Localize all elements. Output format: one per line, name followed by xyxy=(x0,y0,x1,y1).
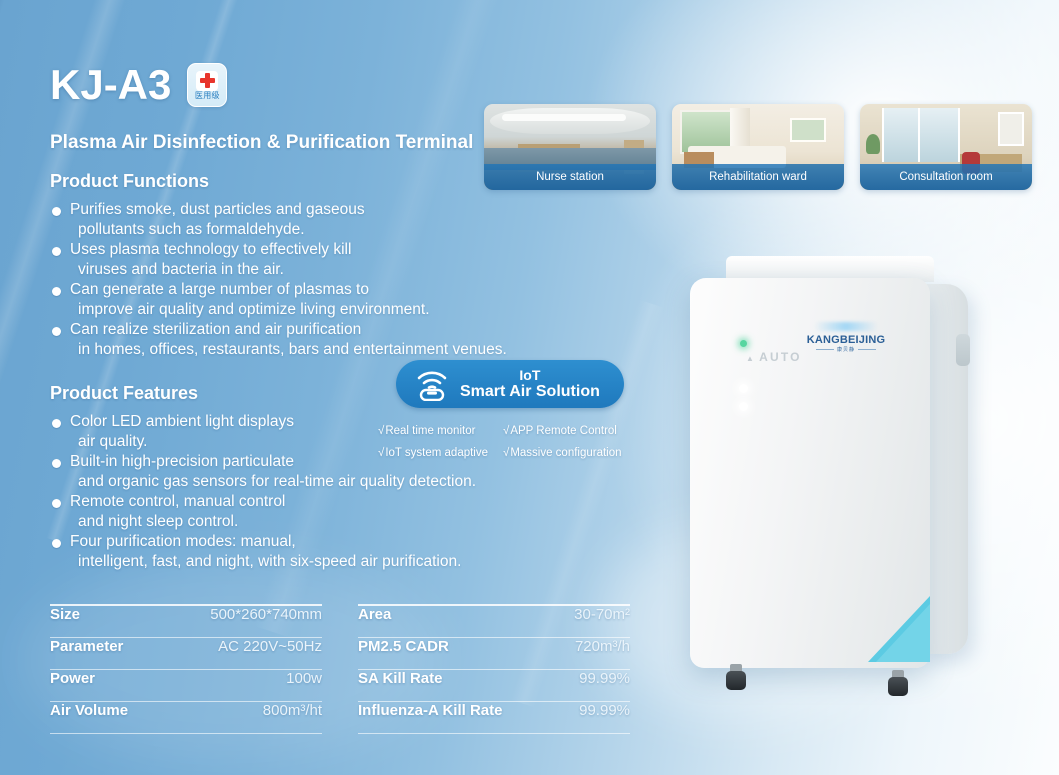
product-mode-label: ▲AUTO xyxy=(746,350,802,364)
spec-key: Parameter xyxy=(50,638,123,655)
bullet-dot-icon xyxy=(52,327,61,336)
list-item-line1: Uses plasma technology to effectively ki… xyxy=(70,241,351,258)
table-row: Power100w xyxy=(50,670,322,702)
medical-grade-label: 医用级 xyxy=(195,92,220,100)
list-item-line1: Can generate a large number of plasmas t… xyxy=(70,281,369,298)
iot-badge: IoT Smart Air Solution xyxy=(396,360,624,408)
iot-badge-text: IoT Smart Air Solution xyxy=(460,368,600,400)
check-item: √APP Remote Control xyxy=(503,420,628,442)
table-row: Area30-70m² xyxy=(358,606,630,638)
table-row: Influenza-A Kill Rate99.99% xyxy=(358,702,630,734)
scene-caption: Rehabilitation ward xyxy=(672,164,844,190)
list-item: Purifies smoke, dust particles and gaseo… xyxy=(52,200,632,239)
bullet-dot-icon xyxy=(52,207,61,216)
title-row: KJ-A3 医用级 xyxy=(50,63,227,107)
check-tick-icon: √ xyxy=(378,425,384,437)
check-label: IoT system adaptive xyxy=(385,447,488,459)
list-item-line2: viruses and bacteria in the air. xyxy=(70,260,351,280)
red-cross-icon xyxy=(196,71,218,91)
background-streak xyxy=(0,0,23,344)
spec-key: Air Volume xyxy=(50,702,128,719)
section-heading-functions: Product Functions xyxy=(50,171,209,192)
check-label: Massive configuration xyxy=(510,447,621,459)
list-item-line1: Remote control, manual control xyxy=(70,493,285,510)
product-caster-wheel xyxy=(888,670,908,696)
brand-name-cn: 康贝静 xyxy=(837,346,855,353)
iot-subtitle: Smart Air Solution xyxy=(460,383,600,400)
list-item: Can realize sterilization and air purifi… xyxy=(52,320,632,359)
scene-thumbnail-rehabilitation-ward[interactable]: Rehabilitation ward xyxy=(672,104,844,190)
table-row: ParameterAC 220V~50Hz xyxy=(50,638,322,670)
bullet-dot-icon xyxy=(52,499,61,508)
product-image: ▲AUTO KANGBEIJING 康贝静 xyxy=(660,250,1040,720)
spec-value: 99.99% xyxy=(579,702,630,719)
brand-name: KANGBEIJING xyxy=(800,334,892,346)
spec-value: AC 220V~50Hz xyxy=(218,638,322,655)
product-front-panel: ▲AUTO KANGBEIJING 康贝静 xyxy=(690,278,930,668)
list-item-line2: pollutants such as formaldehyde. xyxy=(70,220,365,240)
wifi-icon xyxy=(414,367,450,401)
list-item-line2: and night sleep control. xyxy=(70,512,285,532)
spec-value: 720m³/h xyxy=(575,638,630,655)
spec-value: 30-70m² xyxy=(574,606,630,623)
product-accent-triangle-inner xyxy=(876,604,930,662)
list-item-line2: in homes, offices, restaurants, bars and… xyxy=(70,340,507,360)
spec-key: Area xyxy=(358,606,391,623)
table-row: SA Kill Rate99.99% xyxy=(358,670,630,702)
scene-thumbnail-nurse-station[interactable]: Nurse station xyxy=(484,104,656,190)
status-led-white xyxy=(739,402,748,411)
scene-caption: Nurse station xyxy=(484,164,656,190)
table-row: PM2.5 CADR720m³/h xyxy=(358,638,630,670)
section-heading-features: Product Features xyxy=(50,383,198,404)
iot-check-list: √Real time monitor √APP Remote Control √… xyxy=(378,420,628,464)
list-item: Remote control, manual controland night … xyxy=(52,492,632,531)
functions-list: Purifies smoke, dust particles and gaseo… xyxy=(52,200,632,360)
product-subtitle: Plasma Air Disinfection & Purification T… xyxy=(50,132,473,154)
scene-caption: Consultation room xyxy=(860,164,1032,190)
spec-key: SA Kill Rate xyxy=(358,670,442,687)
check-tick-icon: √ xyxy=(503,447,509,459)
poster-canvas: KJ-A3 医用级 Plasma Air Disinfection & Puri… xyxy=(0,0,1059,775)
product-caster-wheel xyxy=(726,664,746,690)
list-item-line2: improve air quality and optimize living … xyxy=(70,300,430,320)
spec-value: 100w xyxy=(286,670,322,687)
list-item: Four purification modes: manual,intellig… xyxy=(52,532,632,571)
check-item: √Massive configuration xyxy=(503,442,628,464)
product-brand-logo: KANGBEIJING 康贝静 xyxy=(800,334,892,353)
list-item-line2: intelligent, fast, and night, with six-s… xyxy=(70,552,461,572)
check-label: APP Remote Control xyxy=(510,425,617,437)
spec-table-left: Size500*260*740mm ParameterAC 220V~50Hz … xyxy=(50,604,322,734)
bullet-dot-icon xyxy=(52,419,61,428)
check-tick-icon: √ xyxy=(503,425,509,437)
spec-key: Influenza-A Kill Rate xyxy=(358,702,502,719)
list-item-line1: Can realize sterilization and air purifi… xyxy=(70,321,361,338)
list-item: Uses plasma technology to effectively ki… xyxy=(52,240,632,279)
spec-key: Size xyxy=(50,606,80,623)
spec-key: PM2.5 CADR xyxy=(358,638,449,655)
spec-value: 500*260*740mm xyxy=(210,606,322,623)
check-tick-icon: √ xyxy=(378,447,384,459)
bullet-dot-icon xyxy=(52,287,61,296)
medical-grade-badge: 医用级 xyxy=(187,63,227,107)
check-item: √Real time monitor xyxy=(378,420,503,442)
table-row: Size500*260*740mm xyxy=(50,606,322,638)
bullet-dot-icon xyxy=(52,539,61,548)
list-item-line2: air quality. xyxy=(70,432,294,452)
spec-key: Power xyxy=(50,670,95,687)
list-item-line1: Built-in high-precision particulate xyxy=(70,453,294,470)
list-item: Can generate a large number of plasmas t… xyxy=(52,280,632,319)
bullet-dot-icon xyxy=(52,247,61,256)
bullet-dot-icon xyxy=(52,459,61,468)
spec-value: 99.99% xyxy=(579,670,630,687)
spec-table-right: Area30-70m² PM2.5 CADR720m³/h SA Kill Ra… xyxy=(358,604,630,734)
check-label: Real time monitor xyxy=(385,425,475,437)
spec-value: 800m³/ht xyxy=(263,702,322,719)
check-item: √IoT system adaptive xyxy=(378,442,503,464)
model-name: KJ-A3 xyxy=(50,64,171,106)
list-item-line1: Purifies smoke, dust particles and gaseo… xyxy=(70,201,365,218)
status-led-white xyxy=(739,384,748,393)
scene-thumbnails: Nurse station Rehabilitation ward Consul… xyxy=(484,104,1032,190)
list-item-line1: Color LED ambient light displays xyxy=(70,413,294,430)
status-led-green xyxy=(740,340,747,347)
list-item-line1: Four purification modes: manual, xyxy=(70,533,296,550)
list-item-line2: and organic gas sensors for real-time ai… xyxy=(70,472,476,492)
iot-title: IoT xyxy=(460,368,600,383)
product-handle xyxy=(956,334,970,366)
scene-thumbnail-consultation-room[interactable]: Consultation room xyxy=(860,104,1032,190)
table-row: Air Volume800m³/ht xyxy=(50,702,322,734)
